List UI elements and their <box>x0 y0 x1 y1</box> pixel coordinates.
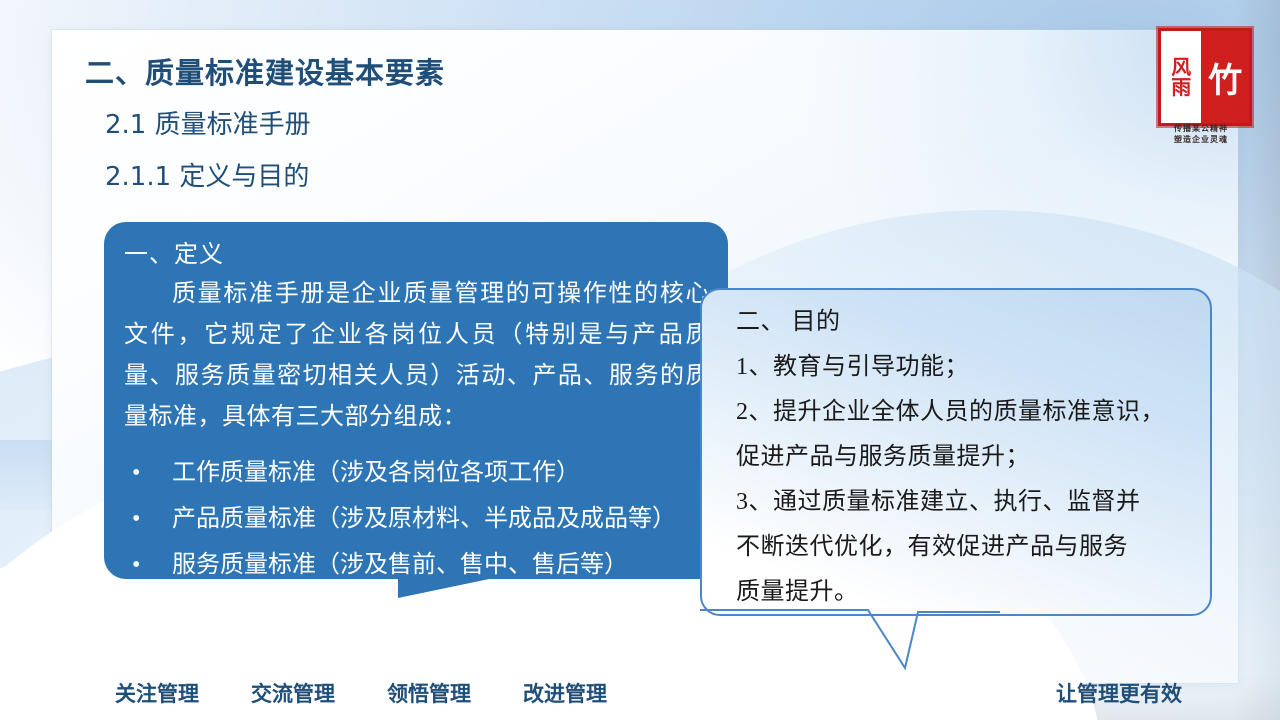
definition-paragraph: 质量标准手册是企业质量管理的可操作性的核心文件，它规定了企业各岗位人员（特别是与… <box>124 274 710 438</box>
seal-char-yu: 雨 <box>1171 77 1191 97</box>
definition-callout: 一、定义 质量标准手册是企业质量管理的可操作性的核心文件，它规定了企业各岗位人员… <box>104 222 728 579</box>
seal-tagline: 传播某公精神 塑造企业灵魂 <box>1152 124 1250 146</box>
definition-bullet-list: • 工作质量标准（涉及各岗位各项工作） • 产品质量标准（涉及原材料、半成品及成… <box>124 450 724 588</box>
bullet-icon: • <box>132 496 140 542</box>
seal-char-zhu: 竹 <box>1201 31 1249 123</box>
footer-item-lingwu: 领悟管理 <box>387 678 471 708</box>
list-item: • 工作质量标准（涉及各岗位各项工作） <box>124 450 724 496</box>
list-item-label: 产品质量标准（涉及原材料、半成品及成品等） <box>172 506 676 532</box>
seal-tagline-line1: 传播某公精神 <box>1152 124 1250 135</box>
company-seal-logo: 风 雨 竹 传播某公精神 塑造企业灵魂 <box>1152 28 1250 156</box>
footer-item-guanzhu: 关注管理 <box>115 678 199 708</box>
purpose-callout: 二、 目的 1、教育与引导功能； 2、提升企业全体人员的质量标准意识， 促进产品… <box>700 288 1212 616</box>
footer-item-gaijin: 改进管理 <box>523 678 607 708</box>
bullet-icon: • <box>132 542 140 588</box>
seal-left-column: 风 雨 <box>1161 31 1201 123</box>
section-heading: 2.1 质量标准手册 <box>105 104 311 141</box>
page-title: 二、质量标准建设基本要素 <box>85 50 445 92</box>
footer-slogan: 让管理更有效 <box>1056 678 1182 708</box>
list-item-label: 工作质量标准（涉及各岗位各项工作） <box>172 460 580 486</box>
definition-title: 一、定义 <box>124 234 224 269</box>
purpose-title: 二、 目的 <box>736 300 1188 345</box>
purpose-line-5: 不断迭代优化，有效促进产品与服务 <box>736 525 1188 570</box>
list-item: • 产品质量标准（涉及原材料、半成品及成品等） <box>124 496 724 542</box>
bullet-icon: • <box>132 450 140 496</box>
seal-char-fengr: 风 <box>1171 57 1191 77</box>
purpose-line-2: 2、提升企业全体人员的质量标准意识， <box>736 390 1188 435</box>
seal-tagline-line2: 塑造企业灵魂 <box>1152 135 1250 146</box>
purpose-line-1: 1、教育与引导功能； <box>736 345 1188 390</box>
purpose-line-6: 质量提升。 <box>736 570 1188 615</box>
footer-item-jiaoliu: 交流管理 <box>251 678 335 708</box>
list-item-label: 服务质量标准（涉及售前、售中、售后等） <box>172 552 628 578</box>
purpose-body: 二、 目的 1、教育与引导功能； 2、提升企业全体人员的质量标准意识， 促进产品… <box>736 300 1188 615</box>
list-item: • 服务质量标准（涉及售前、售中、售后等） <box>124 542 724 588</box>
slide-canvas: 二、质量标准建设基本要素 2.1 质量标准手册 2.1.1 定义与目的 风 雨 … <box>0 0 1280 720</box>
subsection-heading: 2.1.1 定义与目的 <box>105 156 309 193</box>
seal-box: 风 雨 竹 <box>1158 28 1252 126</box>
purpose-line-3: 促进产品与服务质量提升； <box>736 435 1188 480</box>
footer-nav: 关注管理 交流管理 领悟管理 改进管理 <box>115 678 607 708</box>
purpose-line-4: 3、通过质量标准建立、执行、监督并 <box>736 480 1188 525</box>
